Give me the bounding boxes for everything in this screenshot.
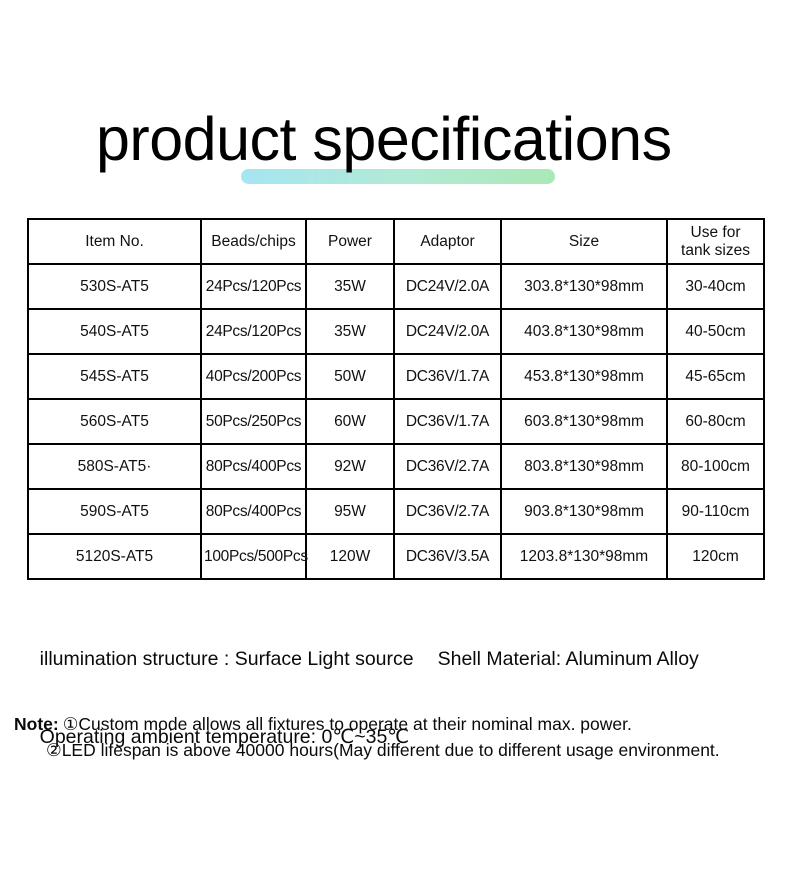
page-title-block: product specifications <box>0 52 790 142</box>
cell-item-no: 5120S-AT5 <box>28 534 201 579</box>
cell-beads-chips: 40Pcs/200Pcs <box>201 354 306 399</box>
cell-beads-chips: 24Pcs/120Pcs <box>201 264 306 309</box>
note-line-1: Note:①Custom mode allows all fixtures to… <box>14 711 790 737</box>
cell-size: 403.8*130*98mm <box>501 309 667 354</box>
cell-item-no: 545S-AT5 <box>28 354 201 399</box>
cell-power: 95W <box>306 489 394 534</box>
cell-size: 903.8*130*98mm <box>501 489 667 534</box>
cell-power: 60W <box>306 399 394 444</box>
column-header-adaptor: Adaptor <box>394 219 501 264</box>
table-row: 590S-AT5 80Pcs/400Pcs 95W DC36V/2.7A 903… <box>28 489 764 534</box>
table-row: 5120S-AT5 100Pcs/500Pcs 120W DC36V/3.5A … <box>28 534 764 579</box>
table-row: 580S-AT5· 80Pcs/400Pcs 92W DC36V/2.7A 80… <box>28 444 764 489</box>
table-row: 560S-AT5 50Pcs/250Pcs 60W DC36V/1.7A 603… <box>28 399 764 444</box>
column-header-tank-sizes-line2: tank sizes <box>670 242 761 260</box>
cell-adaptor: DC24V/2.0A <box>394 264 501 309</box>
cell-beads-chips: 80Pcs/400Pcs <box>201 489 306 534</box>
column-header-beads-chips: Beads/chips <box>201 219 306 264</box>
cell-size: 453.8*130*98mm <box>501 354 667 399</box>
column-header-size: Size <box>501 219 667 264</box>
cell-tank-size: 40-50cm <box>667 309 764 354</box>
cell-adaptor: DC36V/2.7A <box>394 444 501 489</box>
note-label: Note: <box>14 714 59 734</box>
specification-table-container: Item No. Beads/chips Power Adaptor Size … <box>27 218 763 580</box>
spec-line-illumination-shell: illumination structure : Surface Light s… <box>18 620 784 698</box>
table-row: 540S-AT5 24Pcs/120Pcs 35W DC24V/2.0A 403… <box>28 309 764 354</box>
cell-power: 50W <box>306 354 394 399</box>
cell-item-no: 560S-AT5 <box>28 399 201 444</box>
column-header-item-no: Item No. <box>28 219 201 264</box>
cell-adaptor: DC36V/3.5A <box>394 534 501 579</box>
spec-illumination-structure: illumination structure : Surface Light s… <box>40 648 414 670</box>
cell-beads-chips: 50Pcs/250Pcs <box>201 399 306 444</box>
cell-tank-size: 45-65cm <box>667 354 764 399</box>
cell-power: 92W <box>306 444 394 489</box>
cell-item-no: 580S-AT5· <box>28 444 201 489</box>
specification-table: Item No. Beads/chips Power Adaptor Size … <box>27 218 765 580</box>
note-line-2: ②LED lifespan is above 40000 hours(May d… <box>14 737 790 763</box>
cell-adaptor: DC36V/1.7A <box>394 399 501 444</box>
note-block: Note:①Custom mode allows all fixtures to… <box>14 711 790 763</box>
cell-power: 35W <box>306 264 394 309</box>
page-title: product specifications <box>96 107 672 171</box>
cell-beads-chips: 24Pcs/120Pcs <box>201 309 306 354</box>
cell-tank-size: 60-80cm <box>667 399 764 444</box>
cell-power: 120W <box>306 534 394 579</box>
cell-tank-size: 120cm <box>667 534 764 579</box>
cell-size: 1203.8*130*98mm <box>501 534 667 579</box>
cell-power: 35W <box>306 309 394 354</box>
cell-tank-size: 90-110cm <box>667 489 764 534</box>
column-header-tank-sizes: Use for tank sizes <box>667 219 764 264</box>
cell-size: 803.8*130*98mm <box>501 444 667 489</box>
spec-shell-material: Shell Material: Aluminum Alloy <box>438 648 699 670</box>
column-header-power: Power <box>306 219 394 264</box>
table-row: 545S-AT5 40Pcs/200Pcs 50W DC36V/1.7A 453… <box>28 354 764 399</box>
table-header-row: Item No. Beads/chips Power Adaptor Size … <box>28 219 764 264</box>
cell-item-no: 540S-AT5 <box>28 309 201 354</box>
cell-beads-chips: 80Pcs/400Pcs <box>201 444 306 489</box>
note-item-2: ②LED lifespan is above 40000 hours(May d… <box>46 740 720 760</box>
column-header-tank-sizes-line1: Use for <box>670 224 761 242</box>
cell-adaptor: DC24V/2.0A <box>394 309 501 354</box>
cell-size: 603.8*130*98mm <box>501 399 667 444</box>
cell-item-no: 590S-AT5 <box>28 489 201 534</box>
cell-tank-size: 30-40cm <box>667 264 764 309</box>
table-row: 530S-AT5 24Pcs/120Pcs 35W DC24V/2.0A 303… <box>28 264 764 309</box>
cell-tank-size: 80-100cm <box>667 444 764 489</box>
cell-beads-chips: 100Pcs/500Pcs <box>201 534 306 579</box>
cell-adaptor: DC36V/1.7A <box>394 354 501 399</box>
cell-item-no: 530S-AT5 <box>28 264 201 309</box>
cell-adaptor: DC36V/2.7A <box>394 489 501 534</box>
cell-size: 303.8*130*98mm <box>501 264 667 309</box>
note-item-1: ①Custom mode allows all fixtures to oper… <box>63 714 632 734</box>
